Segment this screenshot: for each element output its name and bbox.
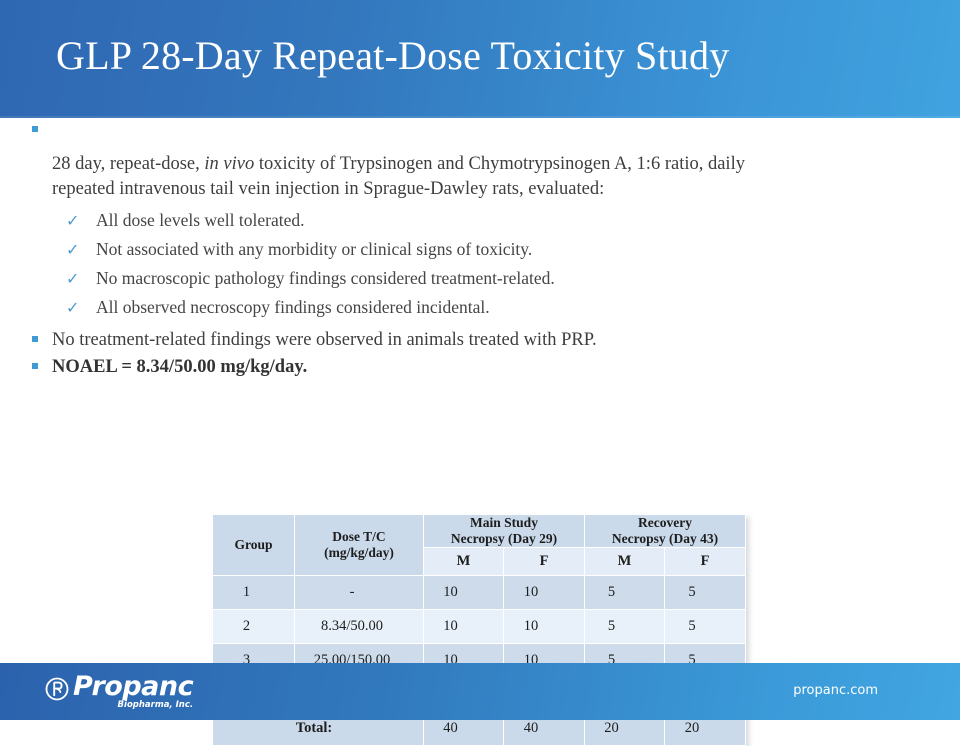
footer-website-url: propanc.com (793, 683, 878, 698)
cell-main-m: 10 (424, 610, 504, 644)
propanc-wordmark: Propanc Biopharma, Inc. (73, 672, 193, 702)
cell-recovery-f: 5 (665, 610, 746, 644)
propanc-logo: Propanc Biopharma, Inc. (45, 672, 193, 702)
col-header-main-line1: Main Study (424, 515, 584, 531)
cell-group: 2 (213, 610, 295, 644)
cell-main-f: 10 (504, 610, 585, 644)
bullet-label: No treatment-related findings were obser… (52, 330, 597, 350)
cell-dose: 8.34/50.00 (295, 610, 424, 644)
bullet-item-primary-1: 28 day, repeat-dose, in vivo toxicity of… (0, 118, 752, 202)
sub-bullet-label: No macroscopic pathology findings consid… (96, 268, 555, 288)
cell-dose: - (295, 576, 424, 610)
col-header-dose-line1: Dose T/C (295, 529, 423, 545)
check-icon: ✓ (66, 237, 79, 263)
bullet-item-primary-2: No treatment-related findings were obser… (0, 328, 752, 353)
check-icon: ✓ (66, 295, 79, 321)
col-subheader-recovery-m: M (585, 548, 665, 576)
cell-main-f: 10 (504, 576, 585, 610)
table-header: Group Dose T/C (mg/kg/day) Main Study Ne… (213, 515, 746, 576)
sub-bullet-label: Not associated with any morbidity or cli… (96, 239, 532, 259)
col-header-group: Group (213, 515, 295, 576)
slide-header-banner: GLP 28-Day Repeat-Dose Toxicity Study (0, 0, 960, 118)
bullet-text-part1: 28 day, repeat-dose, (52, 154, 204, 174)
col-header-main-study: Main Study Necropsy (Day 29) (424, 515, 585, 548)
bullet-marker-icon (32, 336, 38, 342)
col-subheader-main-f: F (504, 548, 585, 576)
check-icon: ✓ (66, 208, 79, 234)
col-header-main-line2: Necropsy (Day 29) (424, 531, 584, 547)
sub-bullet-label: All observed necroscopy findings conside… (96, 297, 490, 317)
cell-recovery-m: 5 (585, 576, 665, 610)
cell-recovery-f: 5 (665, 576, 746, 610)
check-icon: ✓ (66, 266, 79, 292)
sub-bullet-item-2: ✓ Not associated with any morbidity or c… (0, 236, 960, 262)
bullet-marker-icon (32, 126, 38, 132)
bullet-item-primary-3-noael: NOAEL = 8.34/50.00 mg/kg/day. (0, 355, 752, 380)
sub-bullet-item-4: ✓ All observed necroscopy findings consi… (0, 294, 960, 320)
propanc-leaf-mark-icon (45, 677, 69, 701)
sub-bullet-label: All dose levels well tolerated. (96, 210, 304, 230)
col-header-dose-line2: (mg/kg/day) (295, 545, 423, 561)
col-header-dose: Dose T/C (mg/kg/day) (295, 515, 424, 576)
sub-bullet-item-1: ✓ All dose levels well tolerated. (0, 207, 960, 233)
col-header-recovery-line1: Recovery (585, 515, 745, 531)
bullet-label: NOAEL = 8.34/50.00 mg/kg/day. (52, 357, 307, 377)
cell-main-m: 10 (424, 576, 504, 610)
cell-recovery-m: 5 (585, 610, 665, 644)
col-subheader-main-m: M (424, 548, 504, 576)
sub-bullet-item-3: ✓ No macroscopic pathology findings cons… (0, 265, 960, 291)
sub-bullet-group: ✓ All dose levels well tolerated. ✓ Not … (0, 207, 960, 320)
brand-name: Propanc (73, 671, 193, 702)
col-subheader-recovery-f: F (665, 548, 746, 576)
table-row: 1 - 10 10 5 5 (213, 576, 746, 610)
col-header-recovery: Recovery Necropsy (Day 43) (585, 515, 746, 548)
page-title: GLP 28-Day Repeat-Dose Toxicity Study (56, 30, 729, 82)
slide-footer-banner: Propanc Biopharma, Inc. propanc.com (0, 663, 960, 720)
slide-content: 28 day, repeat-dose, in vivo toxicity of… (0, 118, 960, 663)
bullet-list: 28 day, repeat-dose, in vivo toxicity of… (0, 118, 960, 380)
col-header-recovery-line2: Necropsy (Day 43) (585, 531, 745, 547)
brand-subtitle: Biopharma, Inc. (118, 700, 194, 710)
table-row: 2 8.34/50.00 10 10 5 5 (213, 610, 746, 644)
bullet-marker-icon (32, 363, 38, 369)
table-header-row-top: Group Dose T/C (mg/kg/day) Main Study Ne… (213, 515, 746, 548)
cell-group: 1 (213, 576, 295, 610)
bullet-text-italic: in vivo (204, 154, 254, 174)
table-body: 1 - 10 10 5 5 2 8.34/50.00 10 10 5 5 3 (213, 576, 746, 746)
